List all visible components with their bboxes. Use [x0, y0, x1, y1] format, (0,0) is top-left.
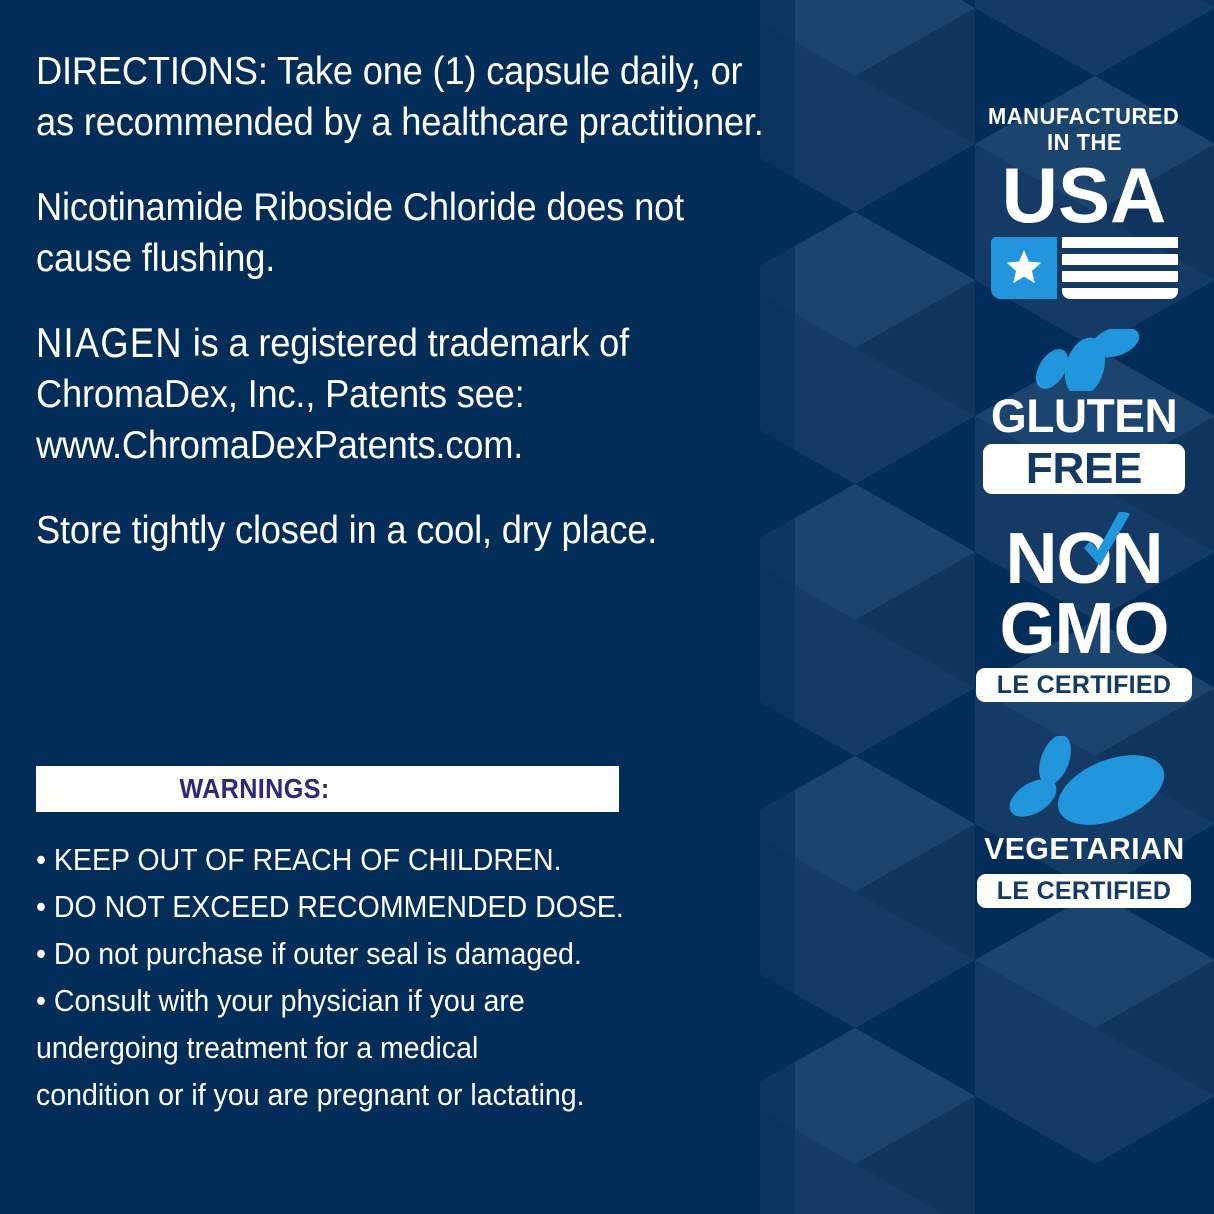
check-mark-icon [1074, 512, 1136, 597]
non-gmo-line2: GMO [1000, 594, 1169, 664]
non-gmo-pill-text: LE CERTIFIED [997, 671, 1171, 700]
flag-stripes [1062, 237, 1178, 299]
warning-item: • KEEP OUT OF REACH OF CHILDREN. [36, 836, 1048, 883]
directions-text-column: DIRECTIONS: Take one (1) capsule daily, … [36, 46, 836, 556]
vegetarian-pill-text: LE CERTIFIED [997, 877, 1171, 906]
leaves-icon [989, 736, 1179, 832]
warnings-heading-bar: WARNINGS: [36, 766, 619, 812]
supplement-label-panel: DIRECTIONS: Take one (1) capsule daily, … [0, 0, 1214, 1214]
flag-stripe [1062, 254, 1178, 265]
non-gmo-line1: NON [1006, 524, 1163, 594]
trademark-paragraph: NIAGEN is a registered trademark of Chro… [36, 318, 780, 471]
certification-badge-column: MANUFACTURED IN THE USA [954, 104, 1214, 908]
flag-stripe [1062, 288, 1178, 299]
flag-canton [991, 237, 1057, 299]
gluten-free-pill-text: FREE [1026, 444, 1142, 494]
badge-manufactured-in-usa: MANUFACTURED IN THE USA [967, 104, 1201, 299]
warnings-heading-label: WARNINGS: [179, 773, 329, 805]
gluten-free-word: GLUTEN [991, 391, 1177, 441]
niagen-logo-text: NIAGEN [36, 316, 183, 371]
badge-vegetarian: VEGETARIAN LE CERTIFIED [967, 736, 1201, 908]
usa-flag-icon [991, 237, 1178, 299]
gluten-free-pill: FREE [983, 444, 1185, 494]
usa-badge-line1: MANUFACTURED [988, 104, 1179, 129]
warning-item: • Consult with your physician if you are… [36, 977, 1048, 1118]
flag-stripe [1062, 271, 1178, 282]
vegetarian-word: VEGETARIAN [984, 832, 1185, 866]
grain-leaves-icon [1019, 329, 1149, 391]
storage-paragraph: Store tightly closed in a cool, dry plac… [36, 505, 780, 556]
flushing-paragraph: Nicotinamide Riboside Chloride does not … [36, 182, 780, 284]
warning-item: • Do not purchase if outer seal is damag… [36, 930, 1048, 977]
non-gmo-pill: LE CERTIFIED [976, 668, 1192, 702]
warning-item: • DO NOT EXCEED RECOMMENDED DOSE. [36, 883, 1048, 930]
directions-paragraph: DIRECTIONS: Take one (1) capsule daily, … [36, 46, 780, 148]
badge-non-gmo: NON GMO LE CERTIFIED [967, 524, 1201, 702]
usa-badge-word: USA [1002, 157, 1167, 233]
vegetarian-pill: LE CERTIFIED [977, 874, 1191, 908]
badge-gluten-free: GLUTEN FREE [967, 329, 1201, 494]
